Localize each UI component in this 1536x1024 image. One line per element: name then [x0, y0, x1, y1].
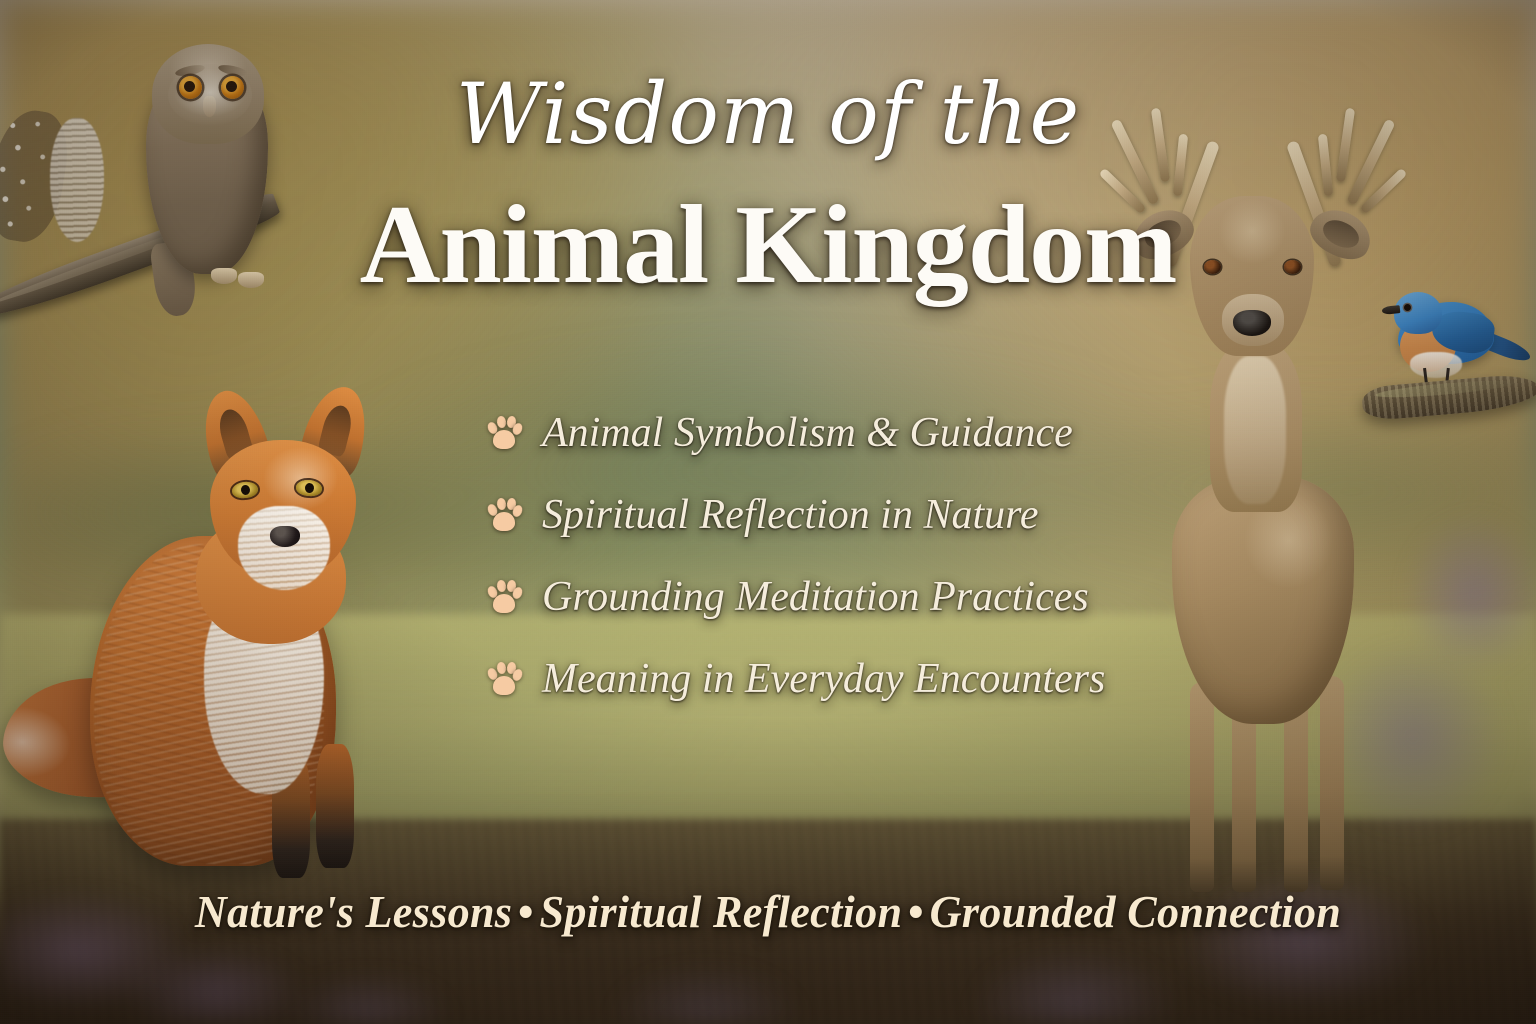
list-item-label: Meaning in Everyday Encounters	[542, 658, 1105, 700]
list-item[interactable]: Animal Symbolism & Guidance	[487, 392, 1157, 474]
paw-print-icon	[487, 415, 521, 451]
tagline-part-3: Grounded Connection	[930, 886, 1342, 937]
paw-print-icon	[487, 497, 521, 533]
title-script-line: Wisdom of the	[0, 72, 1536, 156]
page-title: Animal Kingdom	[0, 186, 1536, 305]
list-item-label: Grounding Meditation Practices	[542, 576, 1089, 618]
list-item-label: Animal Symbolism & Guidance	[542, 412, 1073, 454]
feature-list: Animal Symbolism & Guidance Spiritual Re…	[487, 392, 1157, 720]
list-item[interactable]: Meaning in Everyday Encounters	[487, 638, 1157, 720]
tagline-part-1: Nature's Lessons	[195, 886, 512, 937]
list-item-label: Spiritual Reflection in Nature	[542, 494, 1039, 536]
list-item[interactable]: Spiritual Reflection in Nature	[487, 474, 1157, 556]
tagline-separator-icon: •	[512, 886, 539, 937]
footer-tagline: Nature's Lessons•Spiritual Reflection•Gr…	[31, 889, 1506, 935]
text-content-layer: Wisdom of the Animal Kingdom Animal Symb…	[0, 0, 1536, 1024]
paw-print-icon	[487, 661, 521, 697]
list-item[interactable]: Grounding Meditation Practices	[487, 556, 1157, 638]
tagline-part-2: Spiritual Reflection	[540, 886, 903, 937]
tagline-separator-icon: •	[902, 886, 929, 937]
paw-print-icon	[487, 579, 521, 615]
animal-kingdom-poster: Wisdom of the Animal Kingdom Animal Symb…	[0, 0, 1536, 1024]
